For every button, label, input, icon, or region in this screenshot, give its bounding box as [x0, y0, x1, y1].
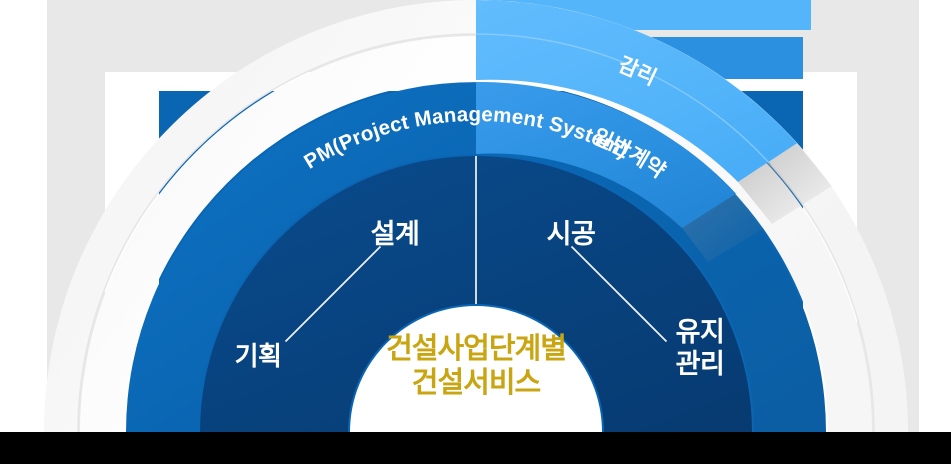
- core-label-line1: 건설사업단계별: [344, 332, 608, 366]
- segment-label-design[interactable]: 설계: [342, 212, 448, 251]
- segment-label-planning[interactable]: 기획: [206, 336, 310, 373]
- core-label-line2: 건설서비스: [344, 366, 608, 400]
- construction-service-half-donut-diagram: PM(Project Management System) 일반계약 감리 기획…: [0, 0, 951, 432]
- segment-label-maintenance-line2: 관리: [648, 348, 752, 380]
- pm-ring-label: PM(Project Management System): [300, 103, 632, 174]
- segment-label-maintenance[interactable]: 유지 관리: [648, 316, 752, 381]
- screenshot-canvas: PM(Project Management System) 일반계약 감리 기획…: [0, 0, 951, 464]
- segment-label-construction[interactable]: 시공: [518, 212, 624, 251]
- supervision-ring-label: 감리: [615, 53, 660, 90]
- bottom-crop-bar: [0, 432, 951, 464]
- segment-label-maintenance-line1: 유지: [648, 316, 752, 348]
- contract-ring-label: 일반계약: [590, 125, 670, 183]
- core-label: 건설사업단계별 건설서비스: [344, 332, 608, 400]
